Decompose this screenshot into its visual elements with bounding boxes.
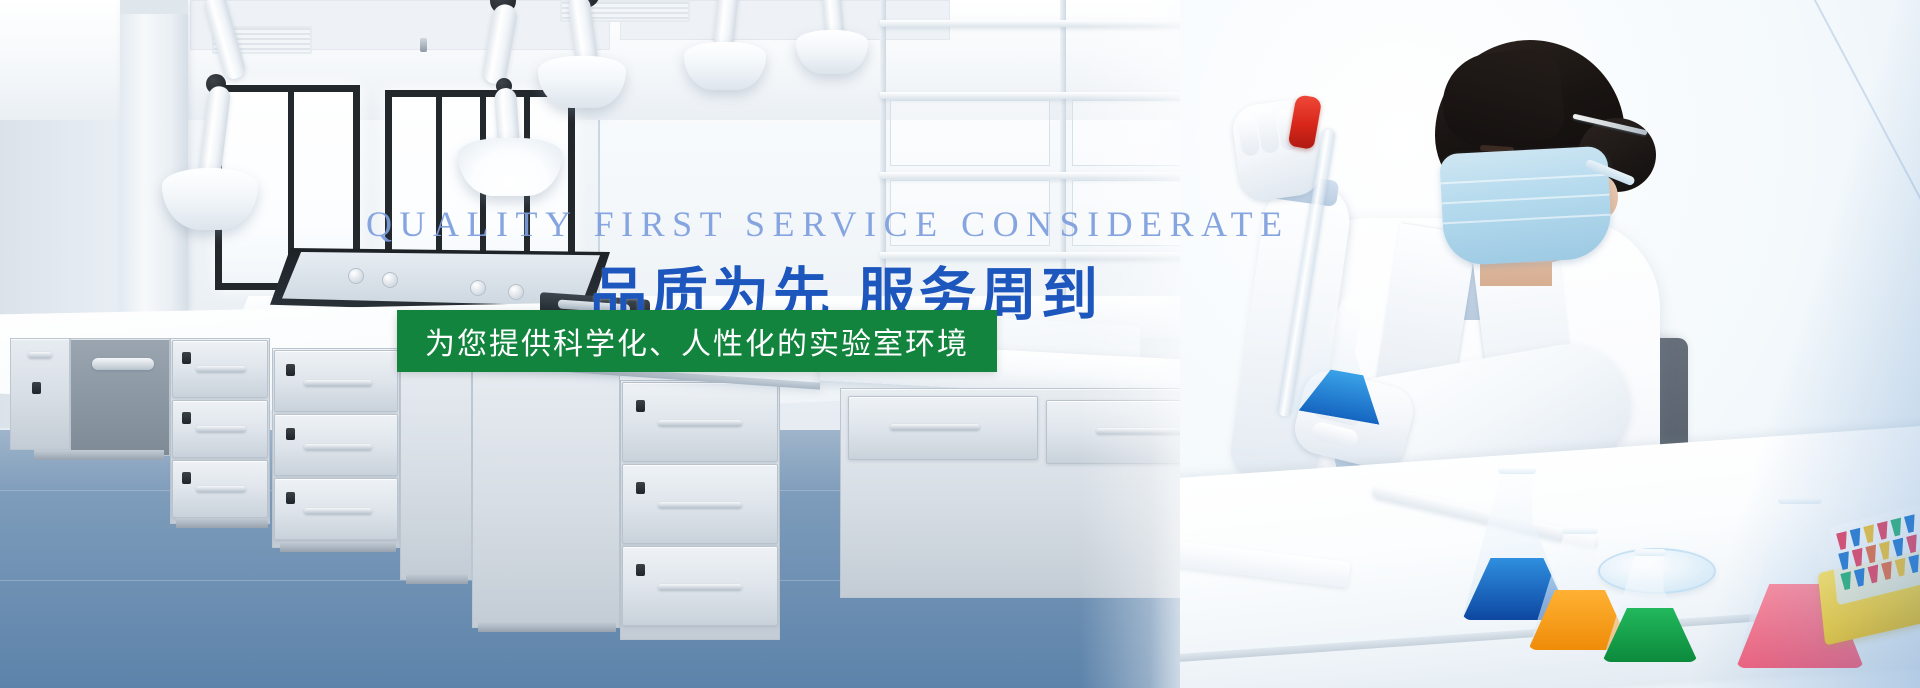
text-overlay: QUALITY FIRST SERVICE CONSIDERATE 品质为先 服… bbox=[0, 0, 1920, 688]
hero-banner: QUALITY FIRST SERVICE CONSIDERATE 品质为先 服… bbox=[0, 0, 1920, 688]
subtitle-green-bar: 为您提供科学化、人性化的实验室环境 bbox=[397, 310, 997, 372]
english-headline: QUALITY FIRST SERVICE CONSIDERATE bbox=[366, 203, 1266, 245]
subtitle-text: 为您提供科学化、人性化的实验室环境 bbox=[425, 319, 969, 363]
